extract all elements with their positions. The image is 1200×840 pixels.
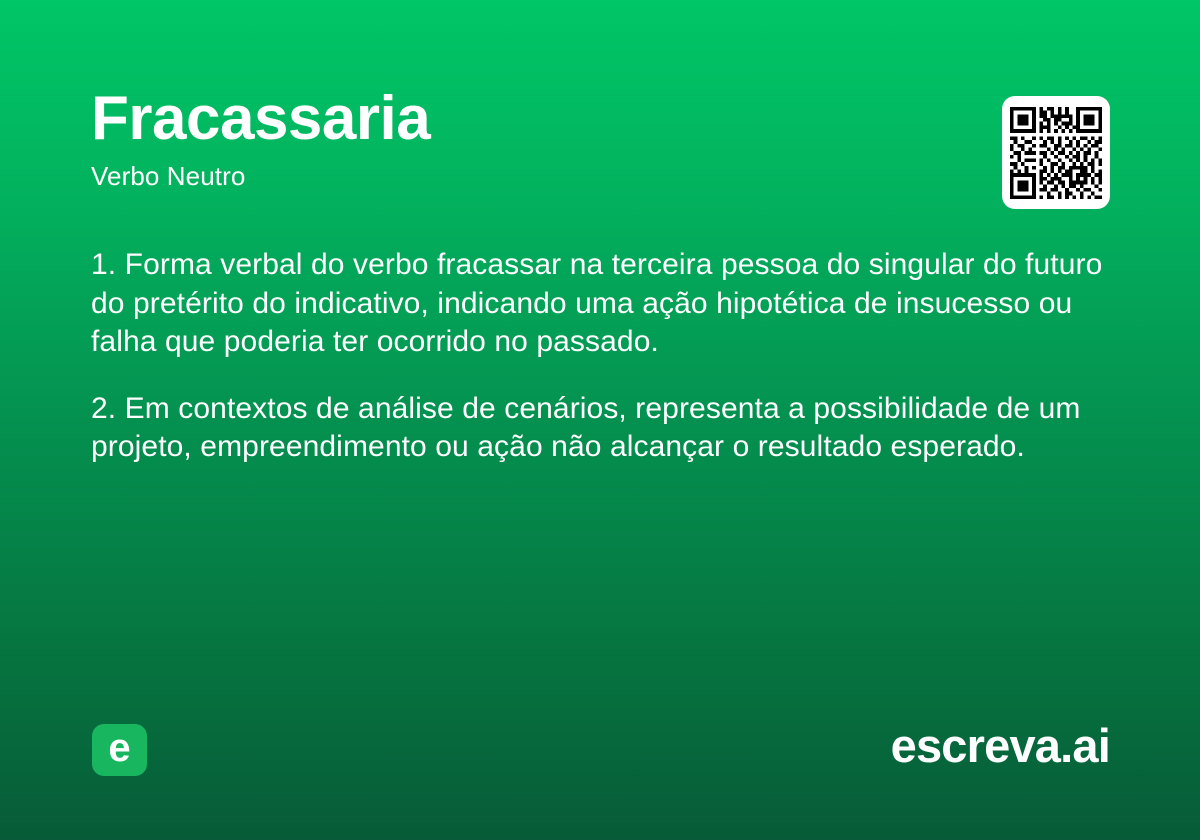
escreva-logo-icon[interactable]: e	[92, 724, 147, 776]
dictionary-card: Fracassaria Verbo Neutro	[0, 0, 1200, 840]
definition-list: 1. Forma verbal do verbo fracassar na te…	[91, 246, 1116, 467]
qr-code-icon	[1010, 107, 1102, 199]
definition-item: 2. Em contextos de análise de cenários, …	[91, 390, 1116, 467]
qr-code-card[interactable]	[1002, 96, 1110, 209]
word-class-label: Verbo Neutro	[91, 161, 971, 192]
card-footer: e escreva.ai	[0, 710, 1200, 840]
definition-item: 1. Forma verbal do verbo fracassar na te…	[91, 246, 1116, 362]
entry-header: Fracassaria Verbo Neutro	[91, 86, 971, 192]
logo-letter: e	[108, 728, 130, 768]
brand-wordmark: escreva.ai	[891, 718, 1110, 774]
page-title: Fracassaria	[91, 86, 971, 151]
